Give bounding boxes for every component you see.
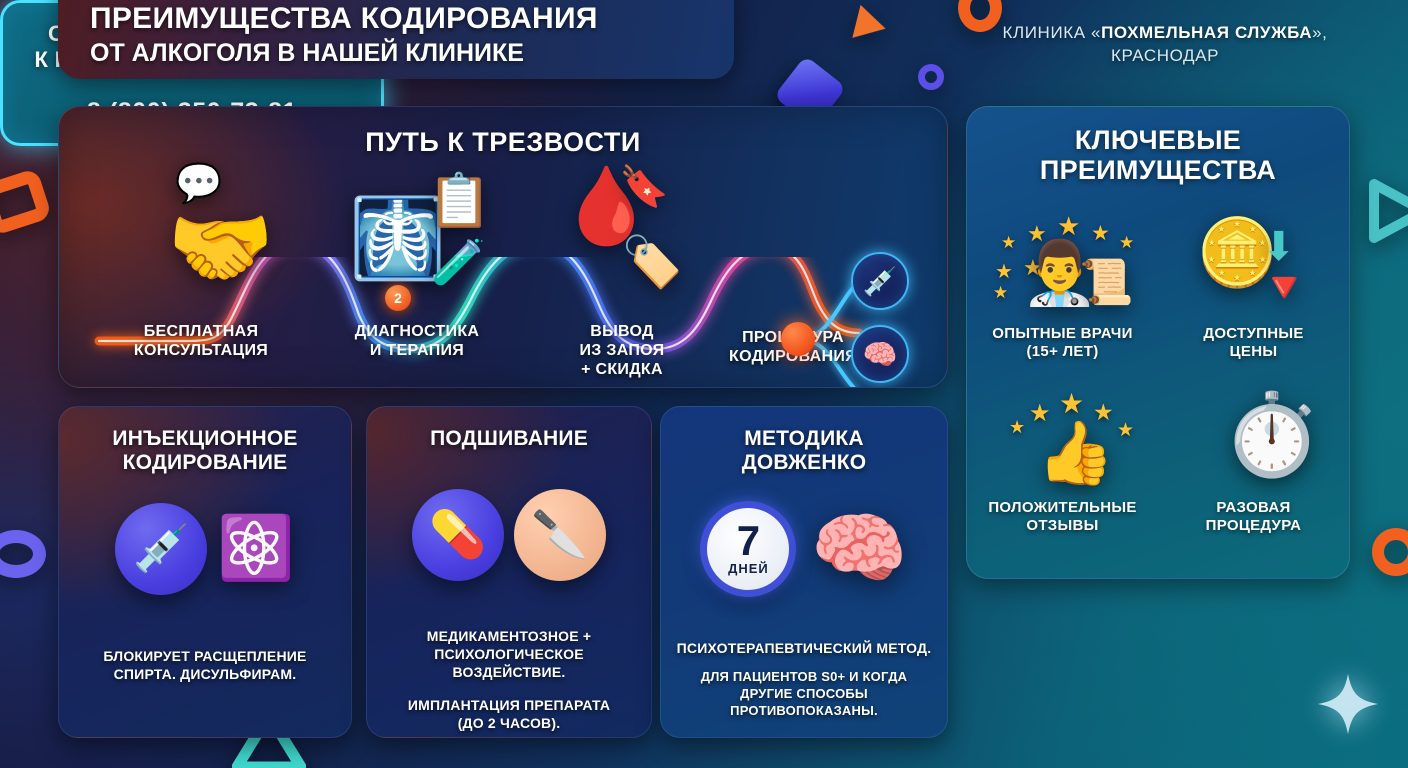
triangle-ring-svg-right <box>1368 176 1408 246</box>
step-label-2: ДИАГНОСТИКА И ТЕРАПИЯ <box>311 323 523 361</box>
discount-tag-icon: 🔖 <box>619 167 669 207</box>
brain-head-icon: 🧠 <box>810 503 907 595</box>
coins-discount-icon: 🪙 ⬇ 🔻 <box>1166 207 1341 325</box>
stopwatch-icon: ⏱️ <box>1166 381 1341 499</box>
speech-question-bubbles-icon: 💬 <box>175 165 222 203</box>
advantage-label-prices: ДОСТУПНЫЕ ЦЕНЫ <box>1166 325 1341 361</box>
advantages-title: КЛЮЧЕВЫЕ ПРЕИМУЩЕСТВА <box>967 125 1349 185</box>
star-icon: ★ <box>1119 233 1134 253</box>
method-desc-injection: БЛОКИРУЕТ РАСЩЕПЛЕНИЕ СПИРТА. ДИСУЛЬФИРА… <box>59 647 351 683</box>
advantage-item-doctors: ★ ★ ★ ★ ★ ★ ★ ★ ★ 👨‍⚕️ 📜 ОПЫТНЫЕ ВРАЧИ (… <box>967 201 1158 375</box>
advantage-item-prices: 🪙 ⬇ 🔻 ДОСТУПНЫЕ ЦЕНЫ <box>1158 201 1349 375</box>
teal-triangle-ring-decoration-right <box>1368 176 1408 251</box>
molecule-icon: ⚛️ <box>217 512 294 585</box>
method-title-implant: ПОДШИВАНИЕ <box>367 427 651 451</box>
down-arrow-icon: ⬇ <box>1262 227 1296 267</box>
capsule-pill-icon: 💊 <box>412 489 504 581</box>
syringe-icon: 💉 <box>115 503 207 595</box>
stopwatch-glyph-icon: ⏱️ <box>1222 395 1322 475</box>
method-art-injection: 💉 ⚛️ <box>59 479 351 619</box>
method-art-implant: 💊 🔪 <box>367 465 651 605</box>
method-card-injection: ИНЪЕКЦИОННОЕ КОДИРОВАНИЕ 💉 ⚛️ БЛОКИРУЕТ … <box>58 406 352 738</box>
handshake-people-icon: 🤝 <box>167 205 274 291</box>
purple-ring-decoration <box>0 530 46 578</box>
advantage-label-single-procedure: РАЗОВАЯ ПРОЦЕДУРА <box>1166 499 1341 535</box>
thumbs-up-icon: ★ ★ ★ ★ ★ 👍 <box>975 381 1150 499</box>
orange-ring-decoration-right <box>1372 528 1408 576</box>
orange-square-ring-decoration <box>0 168 53 237</box>
method-card-dovzhenko: МЕТОДИКА ДОВЖЕНКО 7 ДНЕЙ 🧠 ПСИХОТЕРАПЕВТ… <box>660 406 948 738</box>
sparkle-decoration <box>1316 672 1380 741</box>
advantages-grid: ★ ★ ★ ★ ★ ★ ★ ★ ★ 👨‍⚕️ 📜 ОПЫТНЫЕ ВРАЧИ (… <box>967 201 1349 549</box>
orange-triangle-decoration <box>852 5 889 45</box>
method-card-implant: ПОДШИВАНИЕ 💊 🔪 МЕДИКАМЕНТОЗНОЕ + ПСИХОЛО… <box>366 406 652 738</box>
advantage-item-single-procedure: ⏱️ РАЗОВАЯ ПРОЦЕДУРА <box>1158 375 1349 549</box>
orange-ring-decoration-top <box>958 0 1002 32</box>
star-icon: ★ <box>1009 417 1025 438</box>
hub-node-icon <box>781 322 815 356</box>
clinic-prefix: КЛИНИКА « <box>1002 23 1101 42</box>
method-title-dovzhenko: МЕТОДИКА ДОВЖЕНКО <box>661 427 947 475</box>
advantage-item-reviews: ★ ★ ★ ★ ★ 👍 ПОЛОЖИТЕЛЬНЫЕ ОТЗЫВЫ <box>967 375 1158 549</box>
star-icon: ★ <box>1059 387 1084 420</box>
branch-syringe-node: 💉 <box>851 252 909 310</box>
clinic-name-label: КЛИНИКА «ПОХМЕЛЬНАЯ СЛУЖБА», КРАСНОДАР <box>1000 22 1330 68</box>
thumb-glyph-icon: 👍 <box>1037 423 1114 485</box>
small-purple-ring-decoration <box>918 64 944 90</box>
journey-panel: ПУТЬ К ТРЕЗВОСТИ <box>58 106 948 388</box>
journey-title: ПУТЬ К ТРЕЗВОСТИ <box>59 127 947 158</box>
method-art-dovzhenko: 7 ДНЕЙ 🧠 <box>661 479 947 619</box>
clock-unit: ДНЕЙ <box>728 561 769 576</box>
advantages-title-line1: КЛЮЧЕВЫЕ <box>1075 125 1241 155</box>
advantage-label-doctors: ОПЫТНЫЕ ВРАЧИ (15+ ЛЕТ) <box>975 325 1150 361</box>
advantage-label-reviews: ПОЛОЖИТЕЛЬНЫЕ ОТЗЫВЫ <box>975 499 1150 535</box>
method-desc1-implant: МЕДИКАМЕНТОЗНОЕ + ПСИХОЛОГИЧЕСКОЕ ВОЗДЕЙ… <box>367 627 651 682</box>
star-icon: ★ <box>1057 211 1080 242</box>
star-icon: ★ <box>1117 419 1134 442</box>
percent-badge-icon: 🔻 <box>1258 267 1310 309</box>
branch-brain-head-node: 🧠 <box>851 325 909 383</box>
sparkle-svg <box>1316 672 1380 736</box>
key-advantages-panel: КЛЮЧЕВЫЕ ПРЕИМУЩЕСТВА ★ ★ ★ ★ ★ ★ ★ ★ ★ <box>966 106 1350 579</box>
clock-7-days-icon: 7 ДНЕЙ <box>700 501 796 597</box>
test-tubes-icon: 🧪 <box>431 241 486 285</box>
method-desc1-dovzhenko: ПСИХОТЕРАПЕВТИЧЕСКИЙ МЕТОД. <box>661 639 947 657</box>
skin-incision-icon: 🔪 <box>514 489 606 581</box>
advantages-title-line2: ПРЕИМУЩЕСТВА <box>1040 155 1276 185</box>
method-title-injection: ИНЪЕКЦИОННОЕ КОДИРОВАНИЕ <box>59 427 351 475</box>
clipboard-chart-icon: 📋 <box>427 175 492 227</box>
discount-percent-badge-icon: 🏷️ <box>621 237 683 287</box>
clock-number: 7 <box>737 522 760 560</box>
certificate-icon: 📜 <box>1079 261 1134 305</box>
page-title-panel: ПРЕИМУЩЕСТВА КОДИРОВАНИЯ ОТ АЛКОГОЛЯ В Н… <box>58 0 734 79</box>
clinic-brand: ПОХМЕЛЬНАЯ СЛУЖБА <box>1101 23 1312 42</box>
star-icon: ★ <box>993 283 1008 303</box>
step-label-1: БЕСПЛАТНАЯ КОНСУЛЬТАЦИЯ <box>95 323 307 361</box>
step-label-3: ВЫВОД ИЗ ЗАПОЯ + СКИДКА <box>527 323 717 380</box>
star-icon: ★ <box>995 259 1013 284</box>
doctor-certificate-icon: ★ ★ ★ ★ ★ ★ ★ ★ ★ 👨‍⚕️ 📜 <box>975 207 1150 325</box>
step-badge-2-top: 2 <box>385 285 411 311</box>
method-desc2-implant: ИМПЛАНТАЦИЯ ПРЕПАРАТА (ДО 2 ЧАСОВ). <box>367 696 651 732</box>
page-title-line1: ПРЕИМУЩЕСТВА КОДИРОВАНИЯ <box>90 2 734 36</box>
infographic-canvas: ПРЕИМУЩЕСТВА КОДИРОВАНИЯ ОТ АЛКОГОЛЯ В Н… <box>0 0 1408 768</box>
star-icon: ★ <box>1001 233 1016 253</box>
method-desc2-dovzhenko: ДЛЯ ПАЦИЕНТОВ S0+ И КОГДА ДРУГИЕ СПОСОБЫ… <box>661 669 947 720</box>
page-title-line2: ОТ АЛКОГОЛЯ В НАШЕЙ КЛИНИКЕ <box>90 39 734 68</box>
